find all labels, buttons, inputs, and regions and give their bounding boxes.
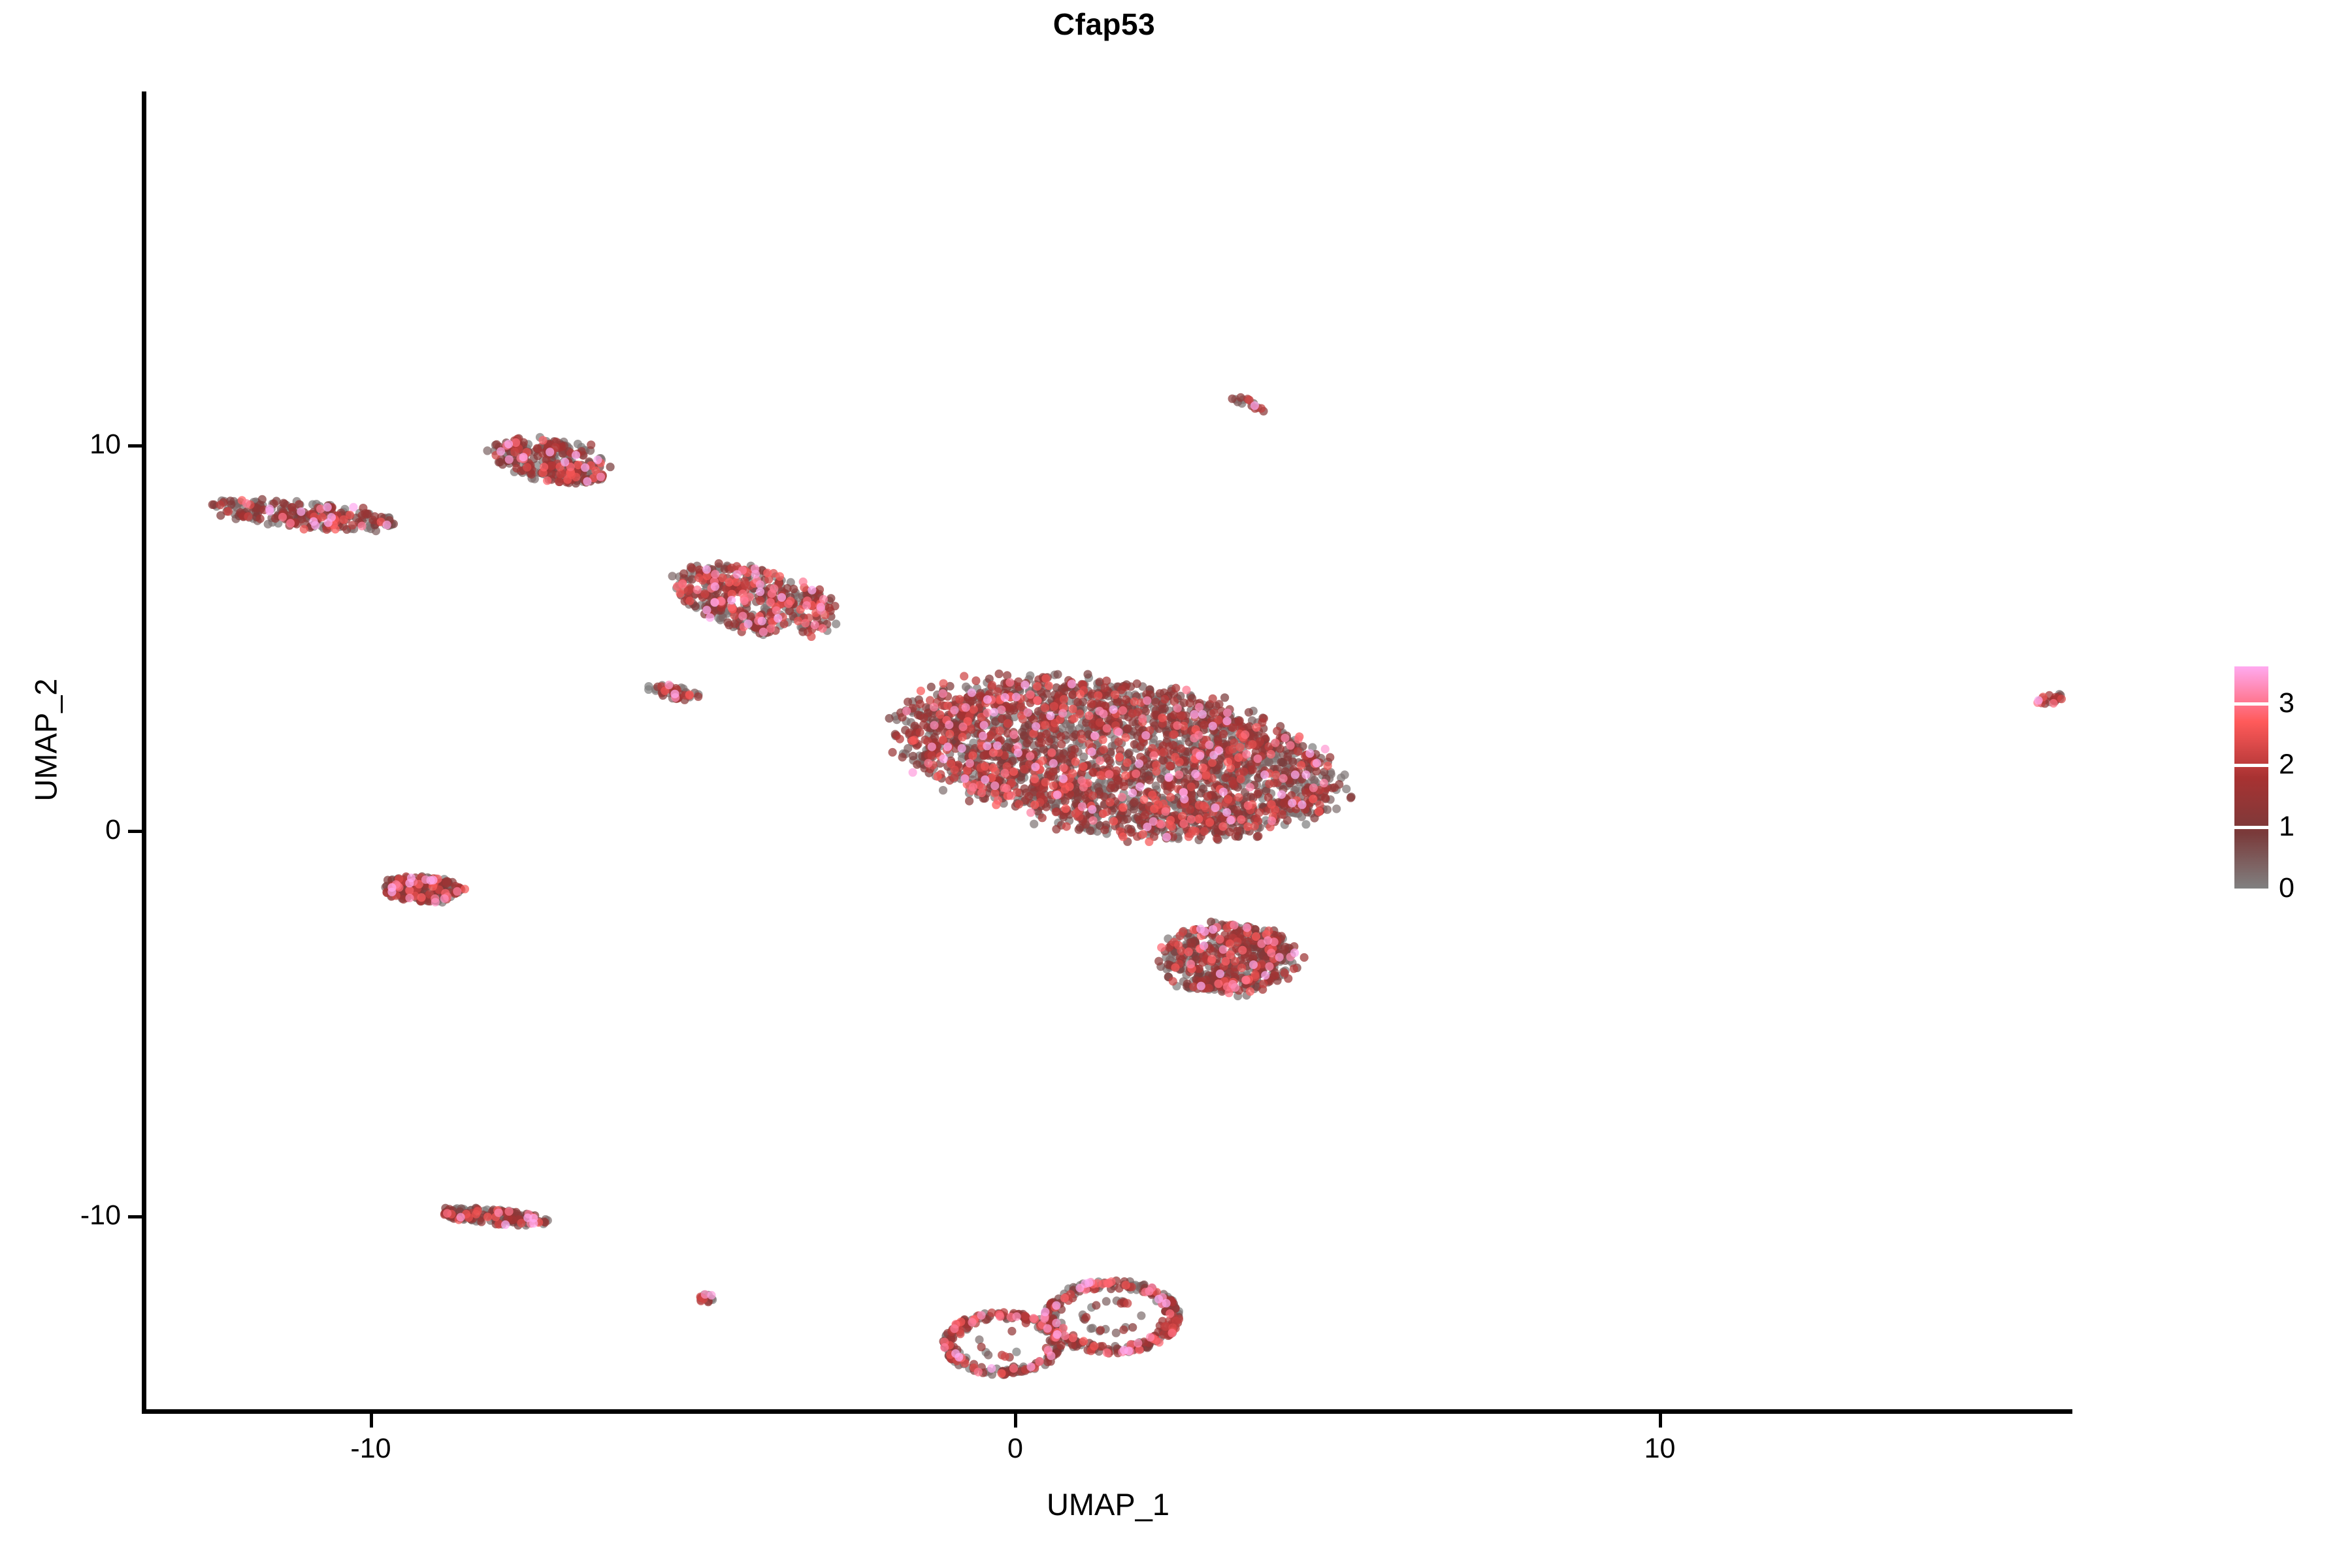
legend-gradient	[2234, 666, 2268, 889]
y-axis-title: UMAP_2	[28, 316, 64, 1165]
y-tick-mark	[128, 444, 142, 448]
x-tick-mark	[370, 1414, 373, 1428]
x-tick-label: 0	[943, 1433, 1087, 1465]
legend-label: 3	[2279, 689, 2295, 717]
legend-tick	[2234, 826, 2268, 829]
umap-feature-plot: Cfap53 -10010100-10 UMAP_1 UMAP_2 3210	[0, 0, 2352, 1568]
x-tick-mark	[1014, 1414, 1017, 1428]
plot-panel	[144, 91, 2071, 1411]
y-axis-line	[142, 91, 146, 1414]
color-legend: 3210	[2234, 666, 2339, 889]
legend-tick	[2234, 702, 2268, 706]
y-tick-label: -10	[0, 1200, 121, 1232]
x-axis-line	[144, 1409, 2072, 1414]
x-tick-label: -10	[299, 1433, 443, 1465]
legend-label: 1	[2279, 813, 2295, 841]
legend-tick	[2234, 764, 2268, 767]
legend-label: 0	[2279, 874, 2295, 902]
y-tick-mark	[128, 1215, 142, 1218]
page-title: Cfap53	[0, 7, 2208, 42]
legend-colorbar	[2234, 666, 2268, 889]
legend-label: 2	[2279, 751, 2295, 779]
x-tick-mark	[1659, 1414, 1662, 1428]
y-tick-mark	[128, 830, 142, 833]
x-tick-label: 10	[1588, 1433, 1732, 1465]
scatter-points-layer	[144, 91, 2071, 1411]
x-axis-title: UMAP_1	[144, 1486, 2072, 1522]
